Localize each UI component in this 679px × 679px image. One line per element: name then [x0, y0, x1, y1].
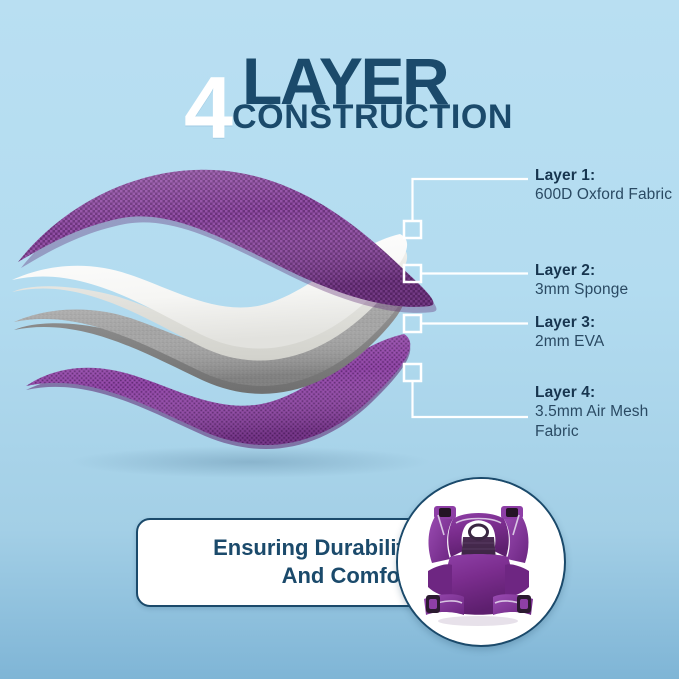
- layer-1-title: Layer 1:: [535, 166, 679, 185]
- layer-1-label: Layer 1: 600D Oxford Fabric: [535, 166, 679, 205]
- layer-1-description: 600D Oxford Fabric: [535, 185, 679, 205]
- layer-4-label: Layer 4: 3.5mm Air Mesh Fabric: [535, 383, 679, 441]
- tagline-line-1: Ensuring Durability: [213, 535, 416, 560]
- heading-word-construction: CONSTRUCTION: [232, 100, 513, 134]
- layer-4-title: Layer 4:: [535, 383, 679, 402]
- layer-3-label: Layer 3: 2mm EVA: [535, 313, 679, 352]
- layer-3-title: Layer 3:: [535, 313, 679, 332]
- layer-stack-illustration: [0, 140, 520, 480]
- layer-4-description: 3.5mm Air Mesh Fabric: [535, 402, 679, 441]
- layer-2-description: 3mm Sponge: [535, 280, 679, 300]
- layer-2-title: Layer 2:: [535, 261, 679, 280]
- heading-number: 4: [184, 72, 229, 144]
- layer-3-description: 2mm EVA: [535, 332, 679, 352]
- tagline-text: Ensuring Durability And Comfort: [166, 534, 416, 590]
- infographic-canvas: 4 LAYER CONSTRUCTION: [0, 0, 679, 679]
- page-title: 4 LAYER CONSTRUCTION: [0, 38, 679, 143]
- product-image-circle: [396, 477, 566, 647]
- layer-2-label: Layer 2: 3mm Sponge: [535, 261, 679, 300]
- dog-harness-illustration: [398, 479, 559, 640]
- tagline-callout-box: Ensuring Durability And Comfort: [136, 518, 440, 607]
